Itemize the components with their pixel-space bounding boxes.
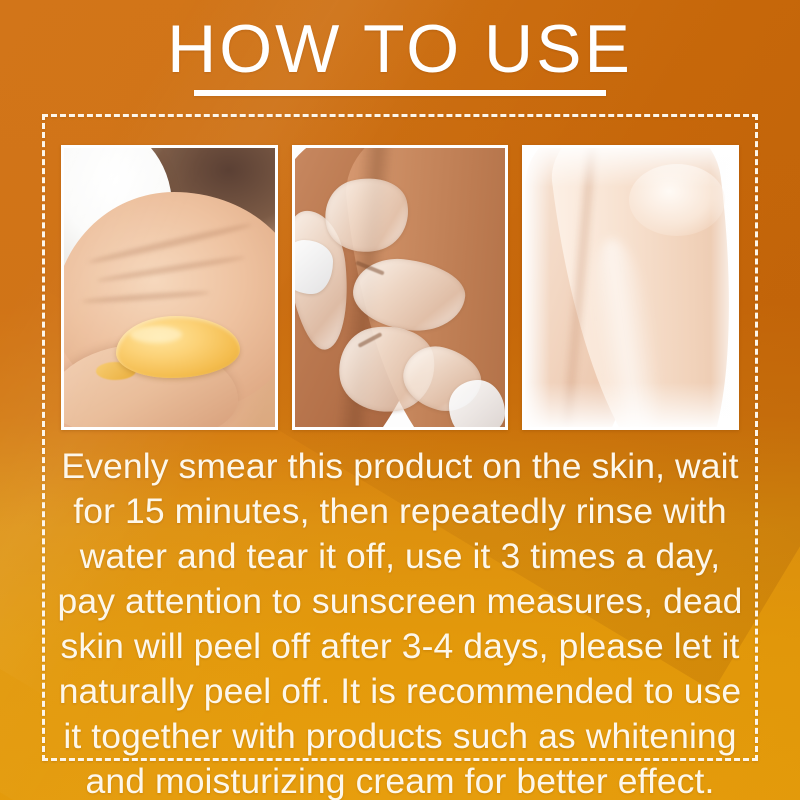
photo-smooth-skin-result [522, 145, 739, 430]
photo-smooth-skin-result-content [525, 148, 736, 427]
photo-strip [61, 145, 739, 430]
instructions-line: skin will peel off after 3-4 days, pleas… [54, 624, 746, 669]
instructions-line: Evenly smear this product on the skin, w… [54, 444, 746, 489]
photo-peeling-skin-content [295, 148, 506, 427]
photo-palm-with-cream-content [64, 148, 275, 427]
instructions-line: it together with products such as whiten… [54, 714, 746, 759]
title-underline-rule [194, 90, 606, 96]
how-to-use-poster: HOW TO USE [0, 0, 800, 800]
page-title: HOW TO USE [0, 14, 800, 96]
photo1-soft-overlay [64, 148, 275, 427]
page-title-text: HOW TO USE [167, 14, 633, 84]
instructions-line: naturally peel off. It is recommended to… [54, 669, 746, 714]
instructions-line: for 15 minutes, then repeatedly rinse wi… [54, 489, 746, 534]
instructions-line: water and tear it off, use it 3 times a … [54, 534, 746, 579]
photo3-edge-fade [525, 148, 736, 427]
photo-peeling-skin [292, 145, 509, 430]
photo-palm-with-cream [61, 145, 278, 430]
instructions-text: Evenly smear this product on the skin, w… [54, 444, 746, 800]
instructions-line: pay attention to sunscreen measures, dea… [54, 579, 746, 624]
instructions-line: and moisturizing cream for better effect… [54, 759, 746, 800]
